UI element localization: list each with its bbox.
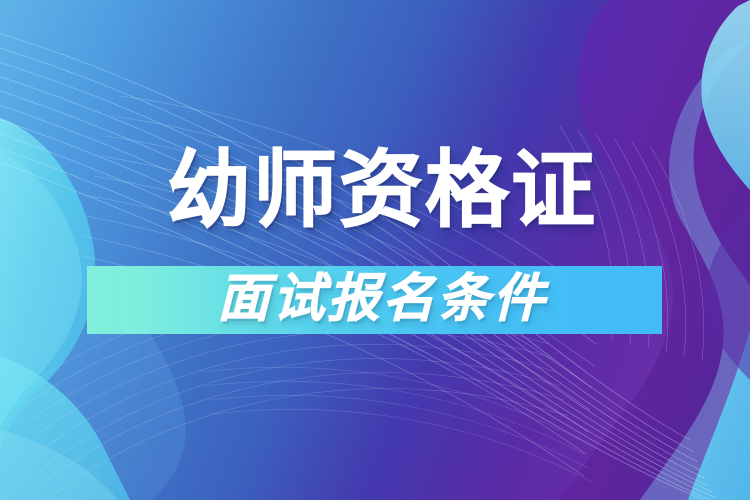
banner-title: 幼师资格证: [0, 148, 750, 234]
arc-line-texture-lower: [0, 0, 750, 500]
banner-subtitle-text: 面试报名条件: [217, 273, 547, 325]
banner-title-text: 幼师资格证: [167, 148, 597, 234]
promo-banner: 幼师资格证 面试报名条件: [0, 0, 750, 500]
banner-subtitle-bar: 面试报名条件: [87, 266, 662, 334]
